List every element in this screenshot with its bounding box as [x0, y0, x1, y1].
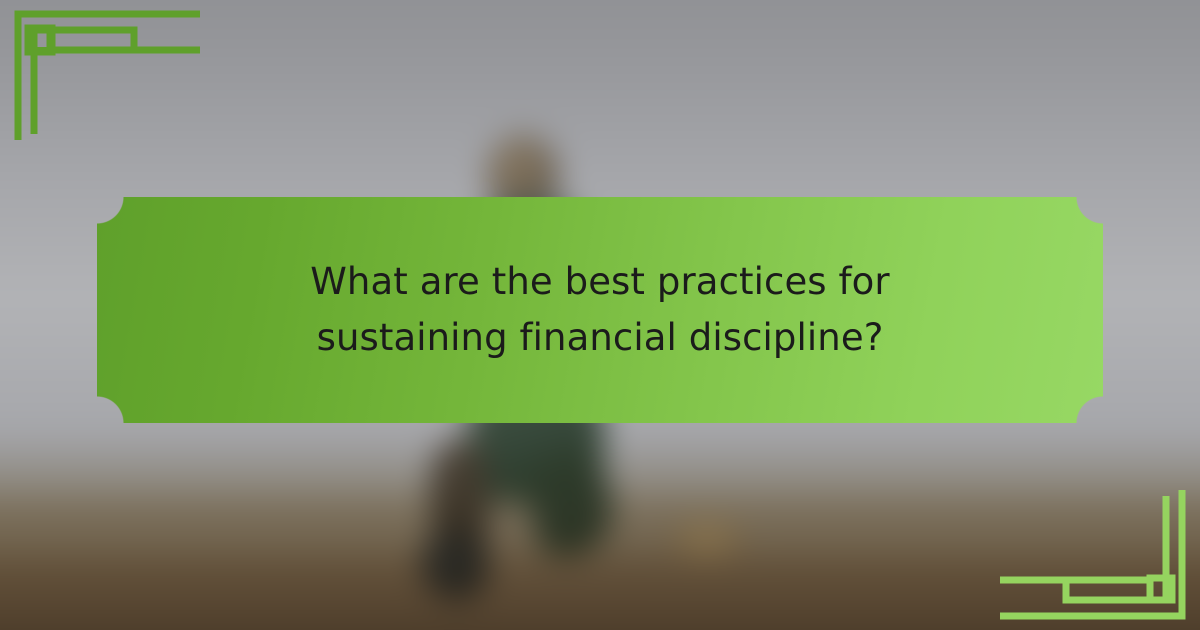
runner-shoe	[422, 532, 488, 598]
headline-text: What are the best practices for sustaini…	[140, 254, 1060, 366]
quote-card: What are the best practices for sustaini…	[0, 0, 1200, 630]
background-debris	[670, 517, 744, 562]
headline-banner: What are the best practices for sustaini…	[97, 197, 1103, 423]
